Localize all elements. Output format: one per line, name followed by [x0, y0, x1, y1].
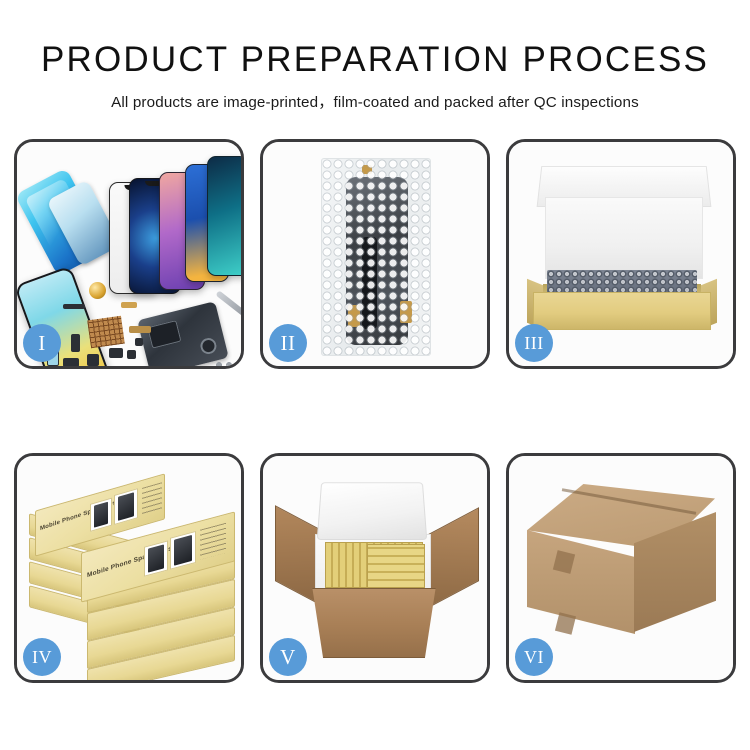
- carton-tape-icon: [555, 612, 576, 635]
- screwdriver-tool-icon: [215, 290, 244, 319]
- step-badge-1: I: [23, 324, 61, 362]
- spare-part-icon: [135, 338, 143, 346]
- foam-lid-icon: [317, 482, 428, 540]
- step-badge-4: IV: [23, 638, 61, 676]
- retail-box-window: [90, 498, 112, 532]
- process-step-panel-6[interactable]: VI: [506, 453, 736, 683]
- retail-box-print-lines: [142, 482, 162, 516]
- retail-box-stack: Mobile Phone Spare Parts Mobile Phone Sp…: [25, 470, 239, 670]
- spare-part-icon: [109, 348, 123, 358]
- spare-part-icon: [63, 304, 85, 309]
- retail-box-window: [170, 531, 196, 570]
- step-badge-3: III: [515, 324, 553, 362]
- connector-grid-icon: [87, 316, 125, 348]
- step-badge-5: V: [269, 638, 307, 676]
- kraft-box-front-icon: [533, 292, 711, 330]
- spare-part-icon: [71, 334, 80, 352]
- retail-box-print-lines: [200, 523, 226, 560]
- carton-left-face-icon: [527, 530, 635, 634]
- box-lid-icon: [545, 197, 703, 279]
- retail-box-window: [144, 540, 168, 576]
- process-step-grid: I II III: [14, 139, 736, 683]
- page-header: PRODUCT PREPARATION PROCESS All products…: [0, 0, 750, 112]
- step-badge-6: VI: [515, 638, 553, 676]
- spare-part-icon: [129, 326, 151, 333]
- spare-part-icon: [87, 354, 99, 366]
- packed-retail-boxes-icon: [367, 544, 425, 588]
- retail-box-window: [114, 488, 138, 525]
- bubble-bag-icon: [321, 158, 431, 356]
- screws-icon: [215, 360, 239, 369]
- spare-part-icon: [63, 358, 79, 367]
- spare-part-icon: [127, 350, 136, 359]
- step-badge-2: II: [269, 324, 307, 362]
- page-subtitle: All products are image-printed，film-coat…: [0, 79, 750, 112]
- bubble-texture-icon: [322, 159, 430, 355]
- process-step-panel-2[interactable]: II: [260, 139, 490, 369]
- process-step-panel-1[interactable]: I: [14, 139, 244, 369]
- process-step-panel-3[interactable]: III: [506, 139, 736, 369]
- gold-component-icon: [89, 282, 106, 299]
- spare-part-icon: [121, 302, 137, 308]
- phone-back-housing-icon: [137, 301, 229, 369]
- page-title: PRODUCT PREPARATION PROCESS: [0, 0, 750, 79]
- phone-teal-display-icon: [207, 156, 244, 276]
- process-step-panel-5[interactable]: V: [260, 453, 490, 683]
- process-step-panel-4[interactable]: Mobile Phone Spare Parts Mobile Phone Sp…: [14, 453, 244, 683]
- carton-front-icon: [307, 588, 441, 658]
